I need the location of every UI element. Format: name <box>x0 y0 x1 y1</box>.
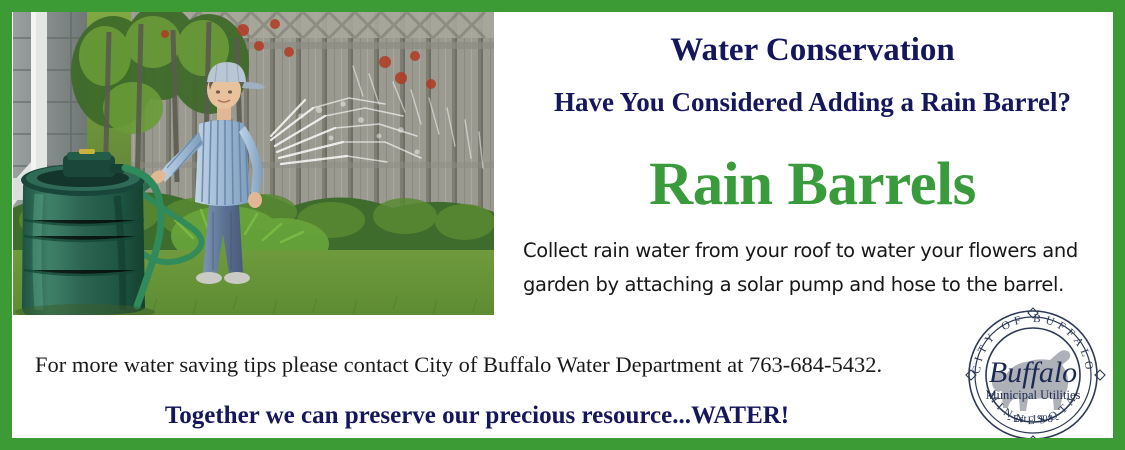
description-line-1: Collect rain water from your roof to wat… <box>523 234 1123 268</box>
rain-barrel-photo <box>13 12 494 315</box>
page-title: Water Conservation <box>500 32 1125 69</box>
rain-barrels-title: Rain Barrels <box>500 152 1125 218</box>
contact-info-text: For more water saving tips please contac… <box>35 352 935 378</box>
city-of-buffalo-seal: CITY OF BUFFALO MINNESOTA Buffalo Munici… <box>958 300 1108 450</box>
description-text: Collect rain water from your roof to wat… <box>523 234 1123 302</box>
seal-established: - Est. 1908 - <box>1007 414 1059 425</box>
poster-root: Water Conservation Have You Considered A… <box>0 0 1125 450</box>
seal-city-name: Buffalo <box>989 356 1077 389</box>
seal-subtitle: Municipal Utilities <box>986 388 1081 402</box>
description-line-2: garden by attaching a solar pump and hos… <box>523 268 1123 302</box>
headline-block: Water Conservation Have You Considered A… <box>500 12 1125 312</box>
tagline-text: Together we can preserve our precious re… <box>12 402 942 430</box>
rain-barrel <box>21 149 161 315</box>
page-subtitle: Have You Considered Adding a Rain Barrel… <box>500 87 1125 118</box>
